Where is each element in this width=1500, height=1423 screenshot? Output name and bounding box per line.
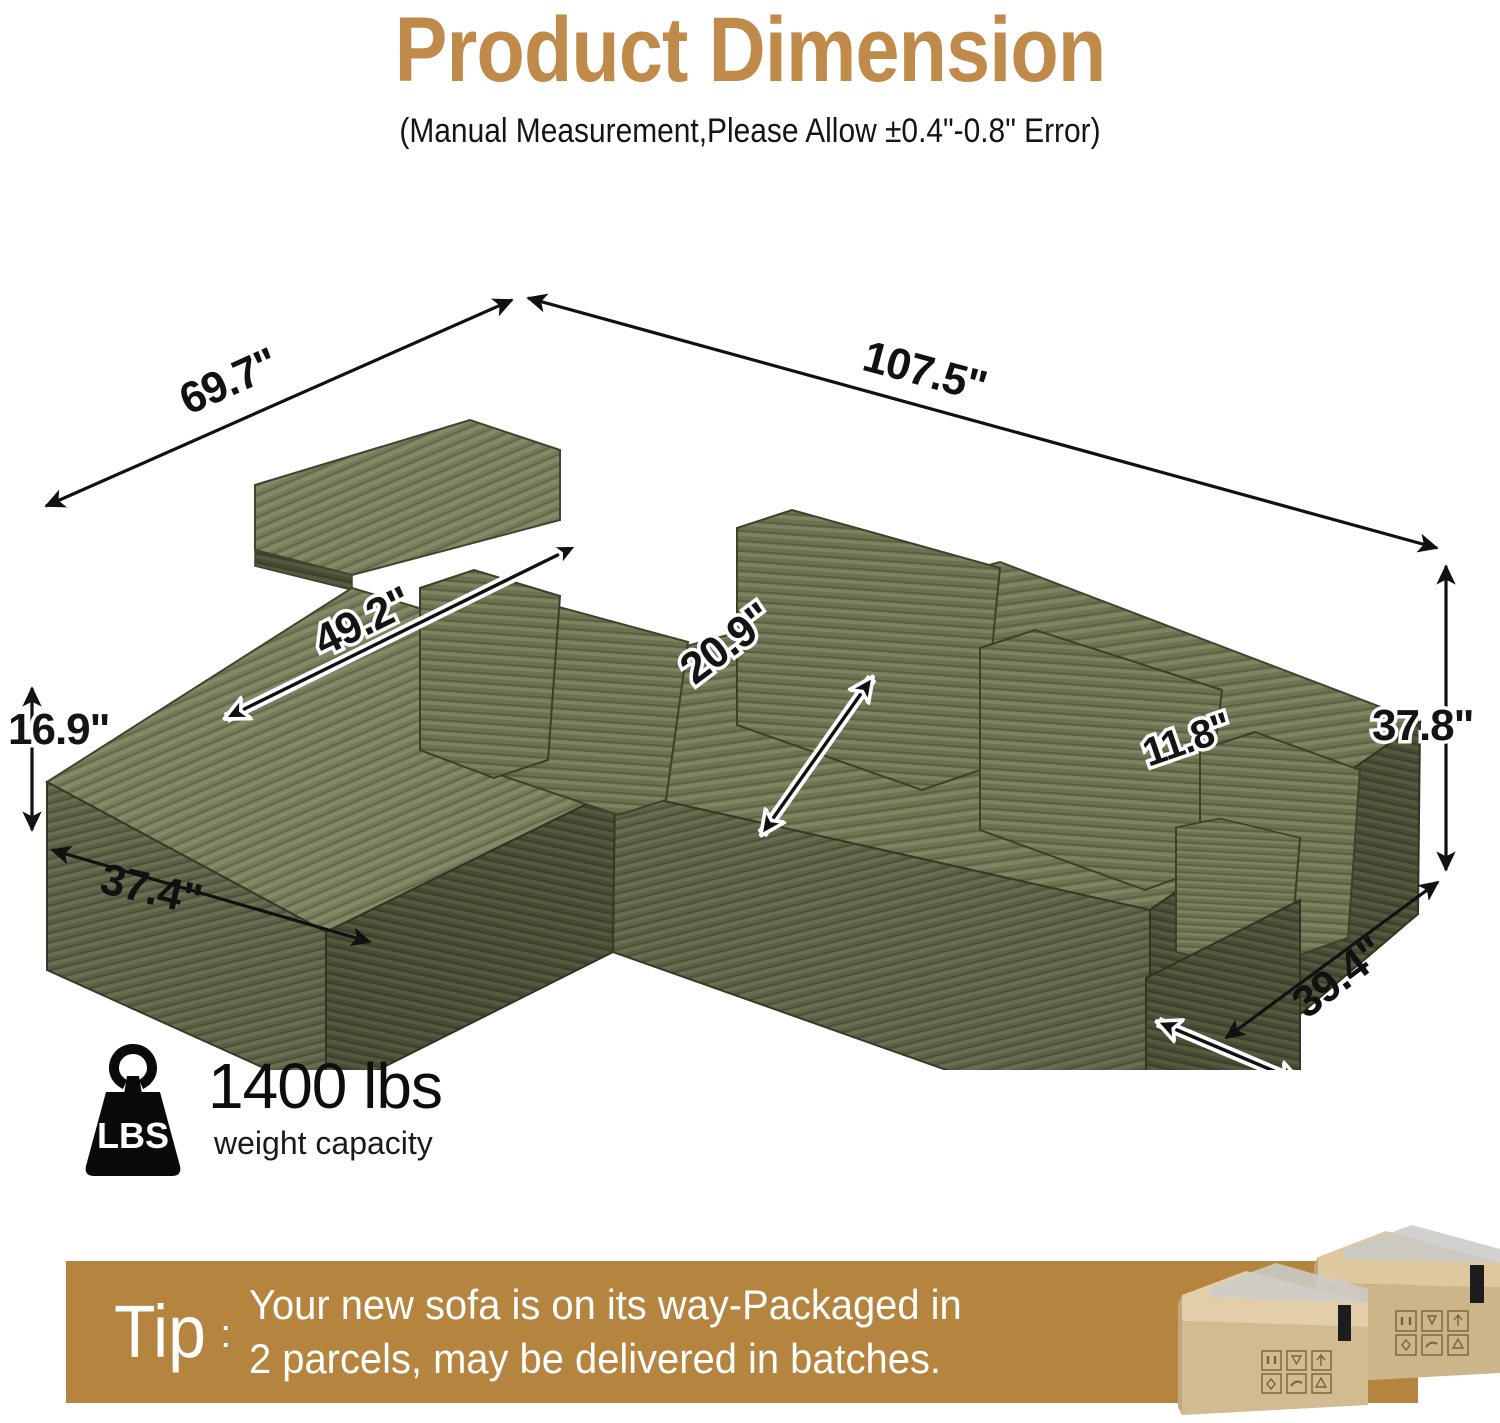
- weight-icon-label: LBS: [97, 1115, 169, 1156]
- tip-label: Tip: [114, 1295, 206, 1369]
- tip-colon: :: [220, 1314, 231, 1354]
- product-dimension-infographic: Product Dimension (Manual Measurement,Pl…: [0, 0, 1500, 1423]
- weight-capacity-value: 1400 lbs: [208, 1054, 442, 1118]
- tip-message-line-2: 2 parcels, may be delivered in batches.: [249, 1332, 962, 1386]
- weight-text-block: 1400 lbs weight capacity: [208, 1040, 442, 1160]
- weight-icon: LBS: [74, 1040, 192, 1180]
- dimension-label-seat-height: 16.9": [8, 708, 110, 752]
- parcel-box-front: [1178, 1263, 1368, 1415]
- page-title: Product Dimension: [105, 2, 1395, 98]
- dimension-label-overall-height: 37.8": [1372, 704, 1474, 748]
- arrow-overall-width: [528, 298, 1437, 548]
- measurement-disclaimer: (Manual Measurement,Please Allow ±0.4"-0…: [90, 110, 1410, 152]
- tip-message: Your new sofa is on its way-Packaged in …: [249, 1278, 999, 1386]
- sofa-illustration: 69.7" 107.5" 49.2" 20.9" 16.9" 11.8" 37.…: [0, 270, 1500, 1070]
- parcel-boxes-illustration: [1118, 1225, 1500, 1423]
- weight-capacity-block: LBS 1400 lbs weight capacity: [74, 1040, 442, 1180]
- tip-message-line-1: Your new sofa is on its way-Packaged in: [249, 1278, 962, 1332]
- throw-pillow-left: [420, 570, 560, 778]
- weight-capacity-caption: weight capacity: [214, 1126, 442, 1160]
- chaise-back-ledge: [255, 420, 560, 575]
